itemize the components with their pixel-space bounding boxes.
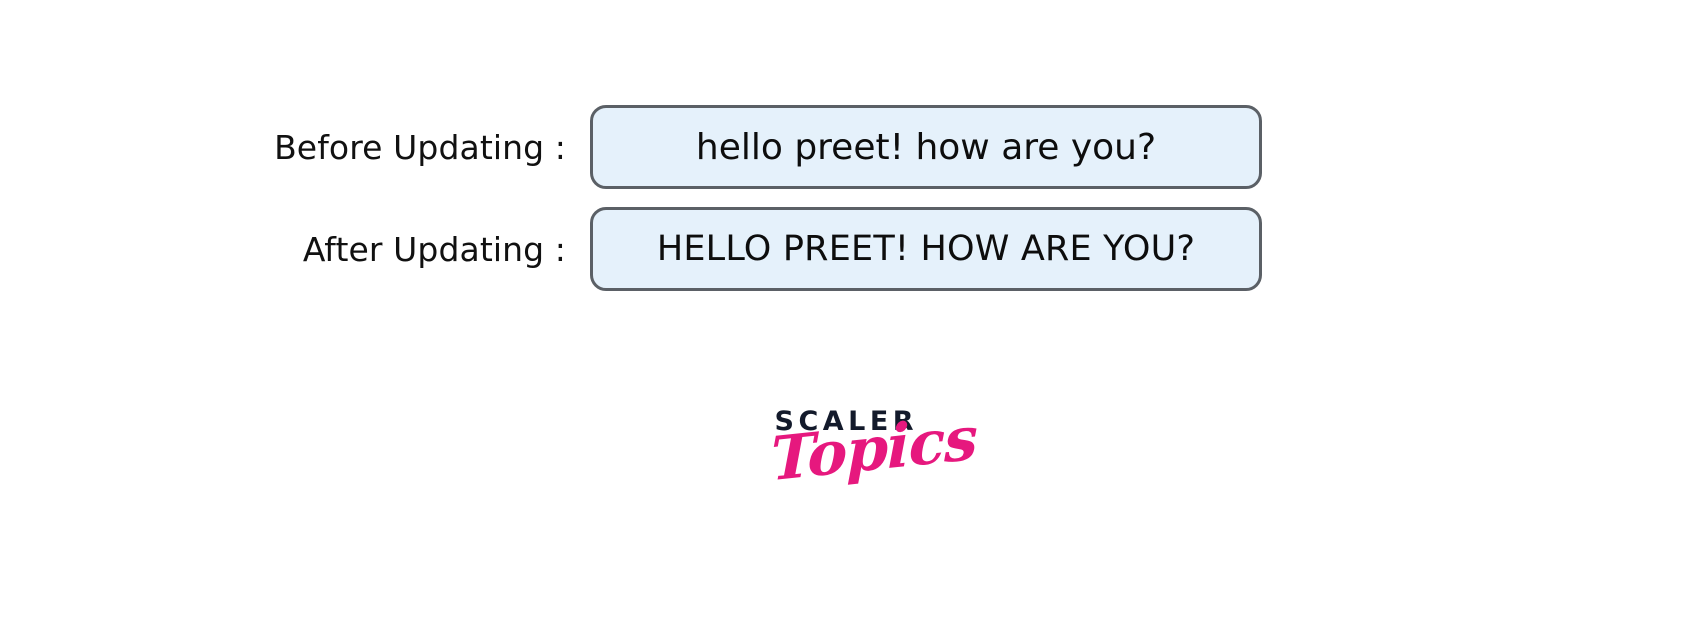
scaler-topics-logo: SCALER Topics — [0, 408, 1701, 518]
after-updating-label: After Updating : — [0, 230, 590, 269]
after-updating-row: After Updating : HELLO PREET! HOW ARE YO… — [0, 207, 1262, 291]
page-canvas: Before Updating : hello preet! how are y… — [0, 0, 1701, 628]
after-updating-value-box: HELLO PREET! HOW ARE YOU? — [590, 207, 1262, 291]
logo-inner: SCALER Topics — [771, 408, 931, 518]
before-updating-label: Before Updating : — [0, 128, 590, 167]
before-updating-value-box: hello preet! how are you? — [590, 105, 1262, 189]
before-updating-row: Before Updating : hello preet! how are y… — [0, 105, 1262, 189]
